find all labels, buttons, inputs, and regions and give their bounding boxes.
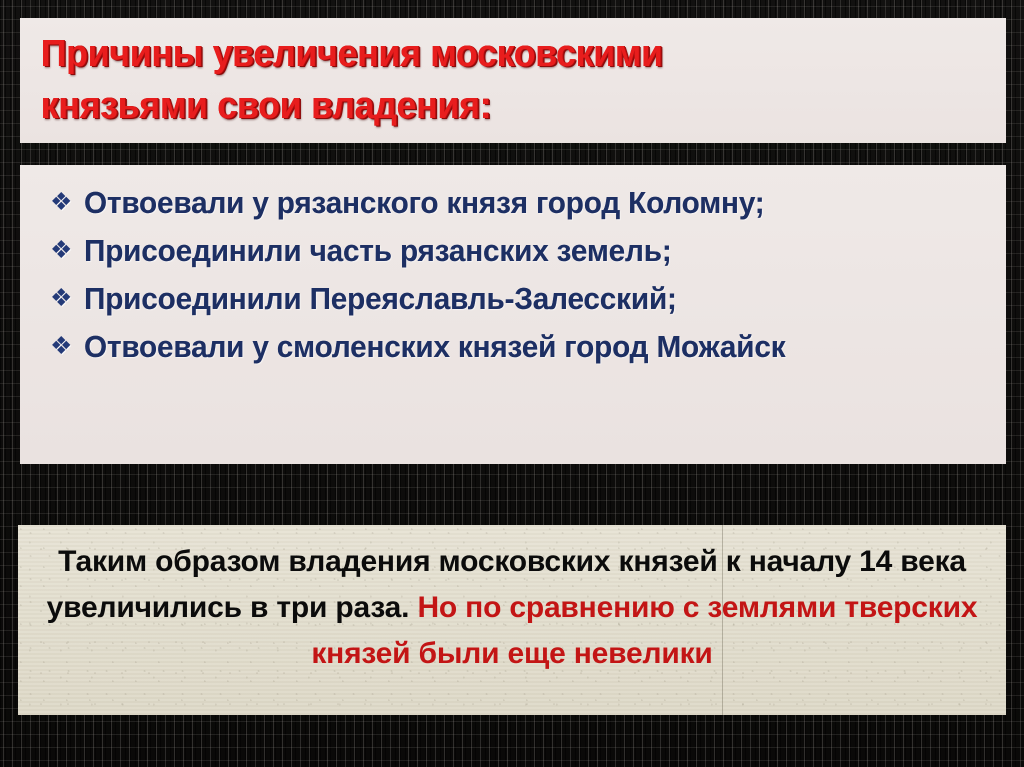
list-item: ❖ Отвоевали у рязанского князя город Кол… — [50, 179, 1006, 226]
conclusion-panel: Таким образом владения московских князей… — [18, 525, 1006, 715]
slide-background: Причины увеличения московскими князьями … — [0, 0, 1024, 767]
diamond-cluster-bullet-icon: ❖ — [50, 179, 84, 226]
conclusion-red-text: Но по сравнению с землями тверских князе… — [311, 591, 977, 670]
list-item: ❖ Отвоевали у смоленских князей город Мо… — [50, 323, 1006, 370]
bullet-list: ❖ Отвоевали у рязанского князя город Кол… — [20, 165, 1006, 370]
list-item-label: Отвоевали у смоленских князей город Можа… — [84, 323, 969, 370]
list-item-label: Присоединили Переяславль-Залесский; — [84, 275, 969, 322]
diamond-cluster-bullet-icon: ❖ — [50, 275, 84, 322]
conclusion-text: Таким образом владения московских князей… — [18, 525, 1006, 677]
list-item-label: Отвоевали у рязанского князя город Колом… — [84, 179, 969, 226]
bullet-list-panel: ❖ Отвоевали у рязанского князя город Кол… — [20, 165, 1006, 464]
title-panel: Причины увеличения московскими князьями … — [20, 18, 1006, 143]
page-title: Причины увеличения московскими князьями … — [20, 18, 947, 132]
list-item-label: Присоединили часть рязанских земель; — [84, 227, 969, 274]
list-item: ❖ Присоединили часть рязанских земель; — [50, 227, 1006, 274]
diamond-cluster-bullet-icon: ❖ — [50, 323, 84, 370]
list-item: ❖ Присоединили Переяславль-Залесский; — [50, 275, 1006, 322]
diamond-cluster-bullet-icon: ❖ — [50, 227, 84, 274]
